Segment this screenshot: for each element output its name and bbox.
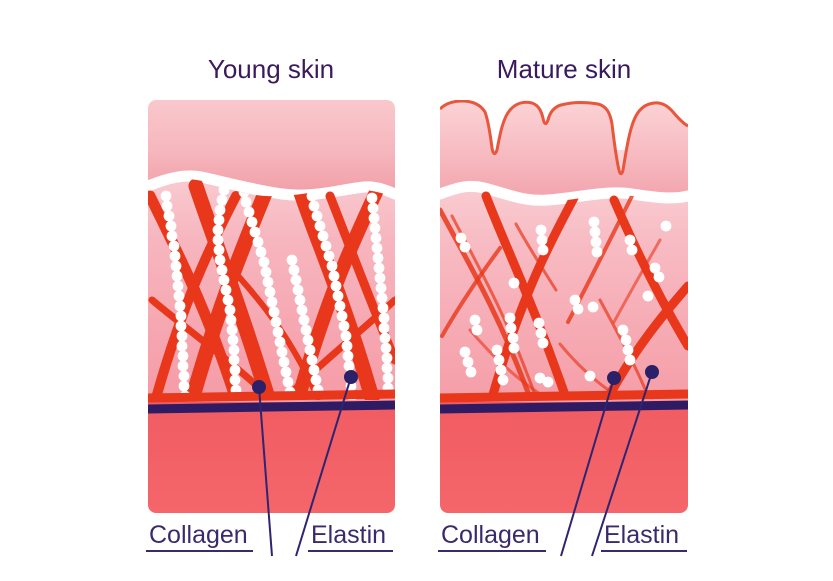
figure-canvas: Young skin Mature skin: [0, 0, 833, 581]
panel-young-skin: [148, 100, 395, 513]
marker-dot: [607, 371, 621, 385]
panel-title-young: Young skin: [208, 54, 334, 84]
mature-junction-navy-band: [440, 405, 688, 409]
panel-title-mature: Mature skin: [497, 54, 631, 84]
elastin-fragment: [588, 302, 599, 313]
young-junction-red-band: [148, 394, 395, 398]
marker-dot: [645, 365, 659, 379]
elastin-fragment: [661, 221, 672, 232]
marker-dot: [252, 380, 266, 394]
elastin-fragment: [585, 371, 596, 382]
callout-label-elastin: Elastin: [311, 521, 386, 549]
elastin-fragment: [509, 278, 520, 289]
young-junction-navy-band: [148, 405, 395, 409]
skin-aging-figure: Young skin Mature skin: [0, 0, 833, 581]
elastin-fragment: [643, 291, 654, 302]
callout-label-elastin: Elastin: [604, 521, 679, 549]
callout-label-collagen: Collagen: [149, 521, 248, 549]
panel-mature-skin: [440, 101, 688, 513]
mature-junction-red-band: [440, 394, 688, 398]
marker-dot: [344, 370, 358, 384]
callout-label-collagen: Collagen: [441, 521, 540, 549]
